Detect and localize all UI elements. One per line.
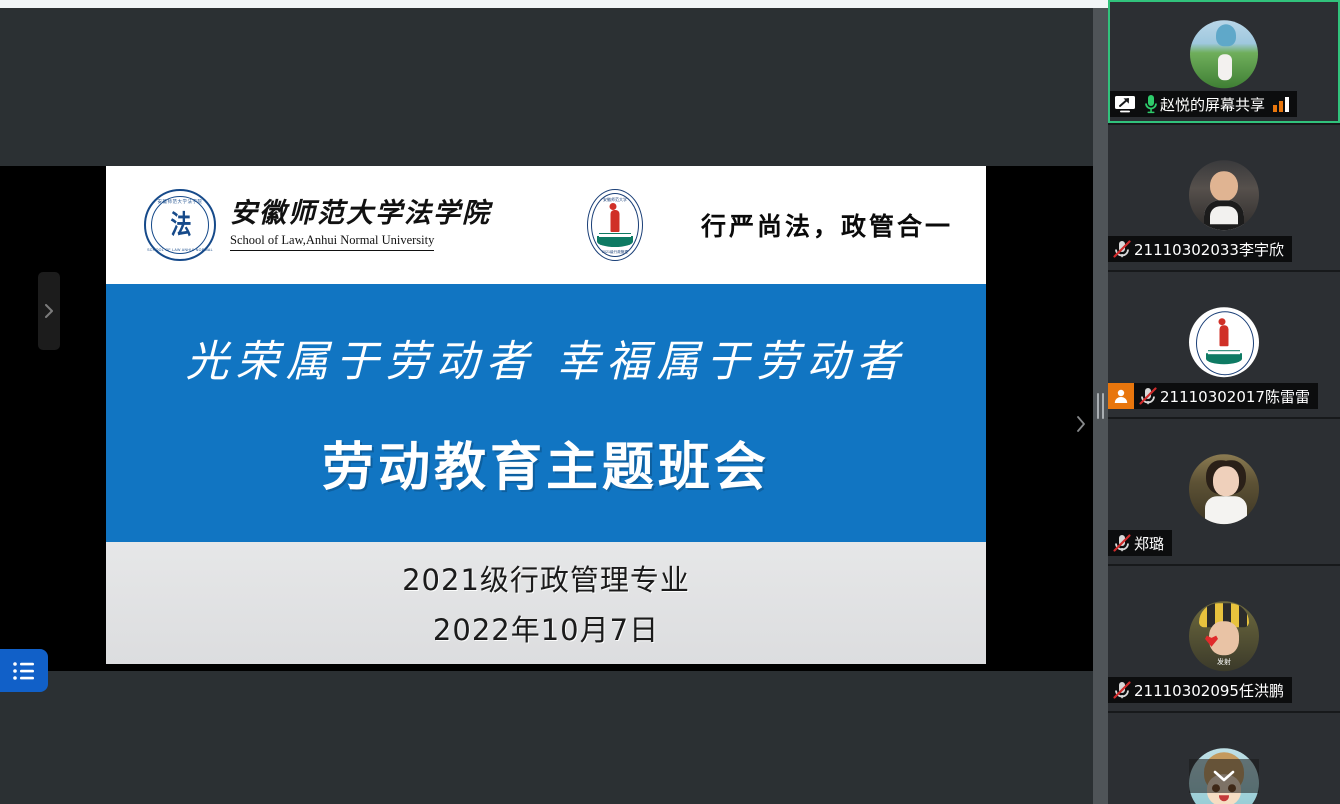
slide-motto: 行严尚法，政管合一 [701, 207, 953, 243]
chevron-right-icon [44, 304, 54, 318]
mic-muted-icon [1112, 239, 1132, 259]
participant-namebar: 赵悦的屏幕共享 [1110, 91, 1297, 117]
participant-tile[interactable]: 发射 21110302095任洪鹏 [1108, 566, 1340, 711]
chevron-right-icon [1075, 415, 1087, 433]
avatar [1190, 20, 1258, 88]
participant-tile-sharing[interactable]: 赵悦的屏幕共享 [1108, 0, 1340, 123]
university-seal-icon: 安徽师范大学 2021级行政管理 [587, 189, 643, 261]
school-name-block: 安徽师范大学法学院 School of Law,Anhui Normal Uni… [230, 199, 491, 252]
participant-name: 21110302033李宇欣 [1134, 239, 1284, 260]
law-seal-bottom-text: SCHOOL OF LAW ANHUI NORMAL [146, 248, 214, 252]
law-seal-mark: 法 [171, 212, 190, 238]
slide-title: 劳动教育主题班会 [322, 425, 770, 500]
uni-seal-figure [611, 210, 620, 232]
participant-name: 郑璐 [1134, 533, 1164, 554]
slide-header: 安徽师范大学法学院 法 SCHOOL OF LAW ANHUI NORMAL 安… [106, 166, 986, 284]
law-seal-top-text: 安徽师范大学法学院 [146, 199, 214, 205]
participant-namebar: 21110302095任洪鹏 [1108, 677, 1292, 703]
school-name-cn: 安徽师范大学法学院 [230, 199, 491, 229]
participant-namebar: 21110302017陈雷雷 [1108, 383, 1318, 409]
participant-tile-host[interactable]: 21110302017陈雷雷 [1108, 272, 1340, 417]
presentation-slide[interactable]: 安徽师范大学法学院 法 SCHOOL OF LAW ANHUI NORMAL 安… [106, 166, 986, 664]
slide-footer-line-1: 2021级行政管理专业 [402, 557, 690, 599]
signal-bars-icon [1273, 96, 1289, 112]
heart-sticker-icon [1205, 635, 1218, 647]
mic-muted-icon [1112, 533, 1132, 553]
participant-name: 21110302095任洪鹏 [1134, 680, 1284, 701]
slide-title-band: 光荣属于劳动者 幸福属于劳动者 劳动教育主题班会 [106, 284, 986, 542]
expand-left-panel-tab[interactable] [38, 272, 60, 350]
uni-seal-top-text: 安徽师范大学 [588, 197, 642, 203]
uni-seal-book [597, 236, 633, 247]
avatar [1189, 454, 1259, 524]
avatar: 发射 [1189, 601, 1259, 671]
host-person-icon [1108, 383, 1134, 409]
mic-on-icon [1144, 94, 1158, 114]
avatar [1189, 307, 1259, 377]
mic-muted-icon [1138, 386, 1158, 406]
participant-list-button[interactable] [0, 649, 48, 692]
participant-tile[interactable]: 郑璐 [1108, 419, 1340, 564]
participant-namebar: 21110302033李宇欣 [1108, 236, 1292, 262]
avatar [1189, 160, 1259, 230]
participant-namebar: 郑璐 [1108, 530, 1172, 556]
meeting-window: 安徽师范大学法学院 法 SCHOOL OF LAW ANHUI NORMAL 安… [0, 0, 1340, 804]
share-stage: 安徽师范大学法学院 法 SCHOOL OF LAW ANHUI NORMAL 安… [0, 8, 1093, 804]
drag-grip-icon [1097, 393, 1104, 419]
school-name-en: School of Law,Anhui Normal University [230, 233, 434, 251]
participant-tile[interactable]: 21110302033李宇欣 [1108, 125, 1340, 270]
list-menu-icon [12, 661, 36, 681]
slide-footer: 2021级行政管理专业 2022年10月7日 [106, 542, 986, 664]
slide-subtitle: 光荣属于劳动者 幸福属于劳动者 [186, 327, 907, 389]
participant-filmstrip[interactable]: 赵悦的屏幕共享 21110302033李宇欣 [1108, 0, 1340, 804]
panel-splitter[interactable] [1093, 8, 1108, 804]
law-school-logo: 安徽师范大学法学院 法 SCHOOL OF LAW ANHUI NORMAL 安… [144, 189, 491, 261]
mic-muted-icon [1112, 680, 1132, 700]
avatar-caption: 发射 [1217, 657, 1231, 667]
next-panel-chevron[interactable] [1069, 412, 1093, 436]
chevron-down-icon [1211, 769, 1237, 783]
scroll-down-button[interactable] [1189, 759, 1259, 793]
participant-name: 赵悦的屏幕共享 [1160, 94, 1265, 115]
participant-name: 21110302017陈雷雷 [1160, 386, 1310, 407]
law-school-seal-icon: 安徽师范大学法学院 法 SCHOOL OF LAW ANHUI NORMAL [144, 189, 216, 261]
screen-share-icon [1114, 95, 1136, 113]
participant-tile-partial[interactable] [1108, 713, 1340, 804]
uni-seal-bottom-text: 2021级行政管理 [588, 250, 642, 255]
slide-footer-line-2: 2022年10月7日 [433, 607, 659, 649]
